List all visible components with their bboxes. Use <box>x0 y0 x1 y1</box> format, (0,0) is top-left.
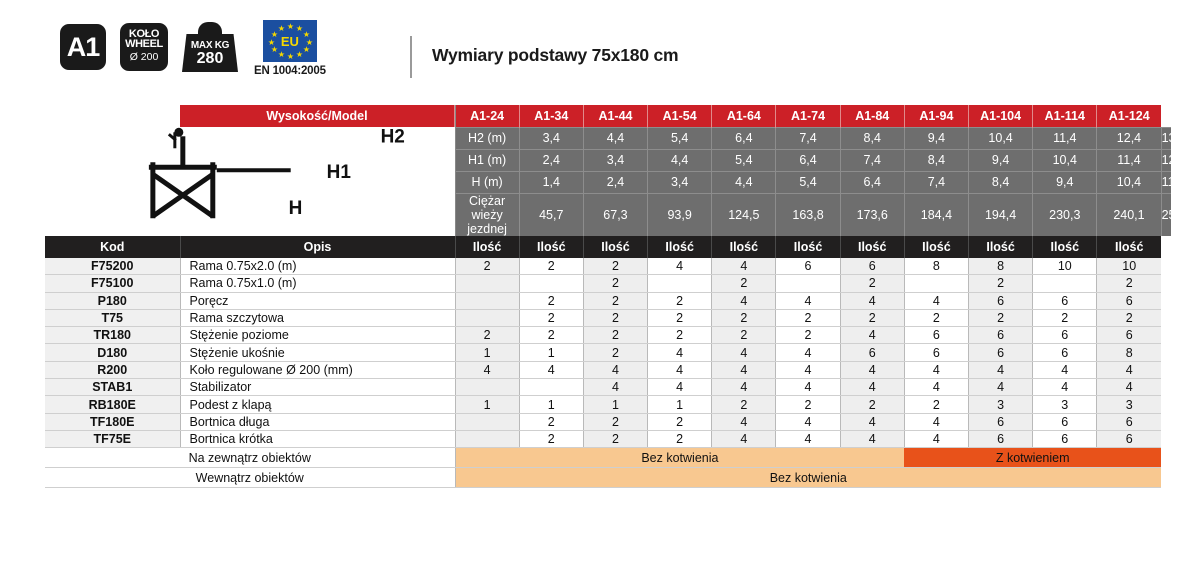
part-quantity: 4 <box>648 379 712 396</box>
subheader-ilosc: Ilość <box>455 236 519 258</box>
max-weight-badge-icon: MAX KG 280 <box>182 22 238 72</box>
part-quantity: 4 <box>840 327 904 344</box>
model-header-a1-24[interactable]: A1-24 <box>455 105 519 127</box>
subheader-ilosc: Ilość <box>583 236 647 258</box>
table-row: TF75EBortnica krótka2224444666 <box>45 430 1171 447</box>
part-quantity: 2 <box>840 275 904 292</box>
part-quantity: 4 <box>840 379 904 396</box>
part-quantity: 2 <box>519 309 583 326</box>
spec-row-label: H (m) <box>455 171 519 193</box>
part-quantity: 3 <box>1097 396 1161 413</box>
part-quantity <box>519 275 583 292</box>
part-code: D180 <box>45 344 180 361</box>
spec-value: 184,4 <box>904 193 968 236</box>
spec-value: 4,4 <box>648 149 712 171</box>
part-quantity: 2 <box>712 275 776 292</box>
part-quantity <box>455 292 519 309</box>
part-quantity: 6 <box>1097 292 1161 309</box>
part-quantity: 4 <box>840 430 904 447</box>
part-quantity: 4 <box>712 379 776 396</box>
part-quantity: 4 <box>776 292 840 309</box>
svg-text:H: H <box>289 198 303 219</box>
part-quantity: 2 <box>648 430 712 447</box>
part-quantity <box>648 275 712 292</box>
part-quantity <box>455 379 519 396</box>
wheel-badge-line2: WHEEL <box>125 39 163 49</box>
spec-value: 124,5 <box>712 193 776 236</box>
table-row: TF180EBortnica długa2224444666 <box>45 413 1171 430</box>
spec-value: 230,3 <box>1033 193 1097 236</box>
spec-value: 3,4 <box>519 127 583 149</box>
part-quantity: 2 <box>583 275 647 292</box>
part-quantity <box>904 275 968 292</box>
spec-value: 9,4 <box>904 127 968 149</box>
spec-value: 240,1 <box>1097 193 1161 236</box>
spec-value: 10,4 <box>969 127 1033 149</box>
anchoring-with-label: Z kotwieniem <box>904 448 1161 468</box>
part-quantity: 4 <box>712 413 776 430</box>
spec-value: 93,9 <box>648 193 712 236</box>
parts-subheader-row: KodOpisIlośćIlośćIlośćIlośćIlośćIlośćIlo… <box>45 236 1171 258</box>
part-quantity: 1 <box>519 344 583 361</box>
max-kg-value: 280 <box>197 51 224 67</box>
part-quantity: 4 <box>648 258 712 275</box>
part-quantity: 4 <box>1033 379 1097 396</box>
eu-flag-icon: ★ ★ ★ ★ ★ ★ ★ ★ ★ ★ ★ ★ EU <box>263 20 317 62</box>
part-quantity: 6 <box>1033 430 1097 447</box>
spec-value: 4,4 <box>583 127 647 149</box>
subheader-ilosc: Ilość <box>648 236 712 258</box>
part-code: F75100 <box>45 275 180 292</box>
part-description: Rama 0.75x2.0 (m) <box>180 258 455 275</box>
part-quantity: 4 <box>712 258 776 275</box>
subheader-ilosc: Ilość <box>776 236 840 258</box>
part-code: F75200 <box>45 258 180 275</box>
part-quantity: 6 <box>969 292 1033 309</box>
part-quantity: 4 <box>712 361 776 378</box>
specification-table: H2 H1 H A1-24A1-34A1-44A1-54A1-64A1-74A1… <box>45 105 1171 488</box>
part-description: Poręcz <box>180 292 455 309</box>
part-quantity: 2 <box>519 327 583 344</box>
spec-value: 5,4 <box>648 127 712 149</box>
spec-row-label: Ciężar wieży jezdnej <box>455 193 519 236</box>
spec-value: 10,4 <box>1097 171 1161 193</box>
part-quantity: 2 <box>1097 275 1161 292</box>
spec-value: 7,4 <box>840 149 904 171</box>
part-quantity: 2 <box>904 396 968 413</box>
part-quantity: 4 <box>455 361 519 378</box>
part-quantity: 2 <box>969 275 1033 292</box>
spec-value: 45,7 <box>519 193 583 236</box>
part-quantity: 2 <box>648 327 712 344</box>
spec-value: 2,4 <box>583 171 647 193</box>
part-code: TR180 <box>45 327 180 344</box>
part-quantity: 4 <box>776 430 840 447</box>
part-quantity: 2 <box>519 413 583 430</box>
subheader-ilosc: Ilość <box>1033 236 1097 258</box>
part-quantity: 4 <box>1097 361 1161 378</box>
part-description: Rama szczytowa <box>180 309 455 326</box>
part-code: STAB1 <box>45 379 180 396</box>
part-quantity <box>455 275 519 292</box>
model-header-a1-94[interactable]: A1-94 <box>904 105 968 127</box>
part-quantity: 4 <box>1097 379 1161 396</box>
part-quantity: 8 <box>904 258 968 275</box>
part-quantity: 1 <box>455 344 519 361</box>
spec-value: 4,4 <box>712 171 776 193</box>
table-row: STAB1Stabilizator444444444 <box>45 379 1171 396</box>
en-standard-label: EN 1004:2005 <box>254 65 326 77</box>
badge-header: A1 KOŁO WHEEL Ø 200 MAX KG 280 ★ ★ ★ ★ ★… <box>60 18 326 98</box>
anchoring-without-label: Bez kotwienia <box>455 448 904 468</box>
part-quantity: 6 <box>904 344 968 361</box>
table-row: P180Poręcz2224444666 <box>45 292 1171 309</box>
part-code: T75 <box>45 309 180 326</box>
subheader-ilosc: Ilość <box>904 236 968 258</box>
max-kg-label: MAX KG <box>191 40 229 51</box>
part-quantity: 6 <box>969 413 1033 430</box>
part-quantity: 4 <box>712 430 776 447</box>
part-quantity: 2 <box>648 292 712 309</box>
part-quantity: 2 <box>583 344 647 361</box>
eu-flag-label: EU <box>281 34 299 49</box>
spec-value: 194,4 <box>969 193 1033 236</box>
part-quantity: 6 <box>1097 327 1161 344</box>
part-quantity: 6 <box>1033 292 1097 309</box>
table-row: T75Rama szczytowa2222222222 <box>45 309 1171 326</box>
svg-text:H2: H2 <box>381 126 405 147</box>
part-quantity: 2 <box>1033 309 1097 326</box>
eu-certification-badge: ★ ★ ★ ★ ★ ★ ★ ★ ★ ★ ★ ★ EU EN 1004:2005 <box>254 20 326 77</box>
part-description: Stężenie poziome <box>180 327 455 344</box>
part-quantity: 4 <box>648 361 712 378</box>
part-quantity: 4 <box>1033 361 1097 378</box>
part-quantity: 2 <box>776 396 840 413</box>
a1-badge-label: A1 <box>67 32 100 63</box>
specification-table-container: H2 H1 H A1-24A1-34A1-44A1-54A1-64A1-74A1… <box>45 105 1171 488</box>
spec-value: 10,4 <box>1033 149 1097 171</box>
part-quantity: 4 <box>583 361 647 378</box>
part-quantity <box>1033 275 1097 292</box>
part-quantity: 10 <box>1033 258 1097 275</box>
part-quantity: 6 <box>1097 430 1161 447</box>
part-quantity: 4 <box>840 292 904 309</box>
spec-value: 3,4 <box>648 171 712 193</box>
model-header-a1-54[interactable]: A1-54 <box>648 105 712 127</box>
spec-value: 173,6 <box>840 193 904 236</box>
spec-value: 13,4 <box>1161 127 1171 149</box>
a1-model-badge: A1 <box>60 24 106 70</box>
wheel-badge-diameter: Ø 200 <box>130 51 159 64</box>
part-quantity: 8 <box>969 258 1033 275</box>
part-quantity: 8 <box>1097 344 1161 361</box>
spec-value: 11,4 <box>1033 127 1097 149</box>
part-code: RB180E <box>45 396 180 413</box>
subheader-ilosc: Ilość <box>712 236 776 258</box>
spec-value: 5,4 <box>712 149 776 171</box>
part-quantity <box>455 413 519 430</box>
part-description: Stężenie ukośnie <box>180 344 455 361</box>
spec-value: 251,1 <box>1161 193 1171 236</box>
part-quantity: 2 <box>455 258 519 275</box>
subheader-ilosc: Ilość <box>519 236 583 258</box>
table-row: R200Koło regulowane Ø 200 (mm)4444444444… <box>45 361 1171 378</box>
model-header-a1-44[interactable]: A1-44 <box>583 105 647 127</box>
part-description: Bortnica krótka <box>180 430 455 447</box>
part-quantity: 6 <box>840 258 904 275</box>
subheader-ilosc: Ilość <box>969 236 1033 258</box>
wysokosc-model-header: Wysokość/Model <box>180 105 455 127</box>
spec-value: 6,4 <box>776 149 840 171</box>
part-quantity: 4 <box>904 430 968 447</box>
table-row: F75100Rama 0.75x1.0 (m)22222 <box>45 275 1171 292</box>
spec-value: 3,4 <box>583 149 647 171</box>
model-header-a1-114[interactable]: A1-114 <box>1033 105 1097 127</box>
part-quantity: 4 <box>776 379 840 396</box>
part-quantity: 2 <box>712 396 776 413</box>
part-quantity <box>455 430 519 447</box>
spec-value: 12,4 <box>1161 149 1171 171</box>
part-description: Podest z klapą <box>180 396 455 413</box>
spec-value: 11,4 <box>1161 171 1171 193</box>
part-quantity <box>776 275 840 292</box>
part-quantity: 1 <box>519 396 583 413</box>
part-code: P180 <box>45 292 180 309</box>
part-quantity: 4 <box>776 413 840 430</box>
part-quantity <box>519 379 583 396</box>
subheader-opis: Opis <box>180 236 455 258</box>
spec-value: 9,4 <box>969 149 1033 171</box>
part-quantity: 2 <box>583 292 647 309</box>
part-quantity: 2 <box>519 258 583 275</box>
part-quantity: 1 <box>583 396 647 413</box>
part-quantity: 4 <box>904 413 968 430</box>
spec-value: 6,4 <box>840 171 904 193</box>
part-quantity: 4 <box>904 379 968 396</box>
part-quantity: 4 <box>712 344 776 361</box>
part-quantity: 2 <box>583 258 647 275</box>
anchoring-row: Na zewnątrz obiektówBez kotwieniaZ kotwi… <box>45 448 1171 468</box>
title-divider <box>410 36 412 78</box>
spec-value: 11,4 <box>1097 149 1161 171</box>
part-quantity: 3 <box>969 396 1033 413</box>
spec-value: 2,4 <box>519 149 583 171</box>
svg-text:H1: H1 <box>327 162 352 183</box>
part-quantity: 10 <box>1097 258 1161 275</box>
part-code: R200 <box>45 361 180 378</box>
table-row: F75200Rama 0.75x2.0 (m)2224466881010 <box>45 258 1171 275</box>
part-quantity: 2 <box>1097 309 1161 326</box>
part-quantity: 2 <box>776 327 840 344</box>
part-quantity: 2 <box>776 309 840 326</box>
part-description: Stabilizator <box>180 379 455 396</box>
part-quantity: 6 <box>840 344 904 361</box>
part-quantity: 4 <box>969 361 1033 378</box>
part-quantity: 2 <box>904 309 968 326</box>
part-quantity: 1 <box>648 396 712 413</box>
part-quantity: 1 <box>455 396 519 413</box>
part-quantity: 2 <box>712 327 776 344</box>
spec-row-label: H2 (m) <box>455 127 519 149</box>
part-quantity: 6 <box>969 430 1033 447</box>
part-quantity: 2 <box>840 309 904 326</box>
part-quantity: 4 <box>648 344 712 361</box>
part-quantity: 3 <box>1033 396 1097 413</box>
part-quantity: 4 <box>583 379 647 396</box>
part-quantity: 4 <box>904 292 968 309</box>
part-quantity: 4 <box>969 379 1033 396</box>
spec-value: 67,3 <box>583 193 647 236</box>
page-title: Wymiary podstawy 75x180 cm <box>432 45 678 66</box>
spec-row-label: H1 (m) <box>455 149 519 171</box>
part-code: TF180E <box>45 413 180 430</box>
part-quantity: 6 <box>969 327 1033 344</box>
part-code: TF75E <box>45 430 180 447</box>
spec-value: 7,4 <box>776 127 840 149</box>
part-quantity: 2 <box>969 309 1033 326</box>
part-quantity: 2 <box>519 430 583 447</box>
spec-value: 5,4 <box>776 171 840 193</box>
part-quantity: 2 <box>583 413 647 430</box>
spec-value: 163,8 <box>776 193 840 236</box>
subheader-ilosc: Ilość <box>1097 236 1161 258</box>
part-quantity: 2 <box>648 413 712 430</box>
part-quantity: 6 <box>1097 413 1161 430</box>
part-quantity: 4 <box>776 361 840 378</box>
part-quantity: 2 <box>712 309 776 326</box>
part-quantity: 4 <box>840 413 904 430</box>
model-header-a1-124[interactable]: A1-124 <box>1097 105 1161 127</box>
part-quantity: 2 <box>455 327 519 344</box>
spec-value: 8,4 <box>904 149 968 171</box>
anchoring-row: Wewnątrz obiektówBez kotwienia <box>45 468 1171 488</box>
part-description: Koło regulowane Ø 200 (mm) <box>180 361 455 378</box>
part-quantity: 4 <box>712 292 776 309</box>
spec-value: 1,4 <box>519 171 583 193</box>
spec-value: 8,4 <box>840 127 904 149</box>
part-quantity: 6 <box>904 327 968 344</box>
part-quantity: 2 <box>583 309 647 326</box>
table-row: D180Stężenie ukośnie11244466668 <box>45 344 1171 361</box>
part-quantity: 2 <box>840 396 904 413</box>
anchoring-label: Na zewnątrz obiektów <box>45 448 455 468</box>
part-quantity: 6 <box>1033 413 1097 430</box>
part-quantity: 2 <box>583 430 647 447</box>
part-quantity: 4 <box>904 361 968 378</box>
subheader-ilosc: Ilość <box>840 236 904 258</box>
part-quantity: 6 <box>776 258 840 275</box>
table-row: RB180EPodest z klapą11112222333 <box>45 396 1171 413</box>
spec-value: 9,4 <box>1033 171 1097 193</box>
part-quantity: 2 <box>519 292 583 309</box>
part-description: Bortnica długa <box>180 413 455 430</box>
spec-value: 12,4 <box>1097 127 1161 149</box>
part-quantity: 4 <box>776 344 840 361</box>
model-header-a1-104[interactable]: A1-104 <box>969 105 1033 127</box>
part-description: Rama 0.75x1.0 (m) <box>180 275 455 292</box>
part-quantity: 2 <box>648 309 712 326</box>
part-quantity: 6 <box>1033 344 1097 361</box>
part-quantity: 6 <box>969 344 1033 361</box>
model-header-a1-84[interactable]: A1-84 <box>840 105 904 127</box>
subheader-kod: Kod <box>45 236 180 258</box>
part-quantity: 6 <box>1033 327 1097 344</box>
wheel-badge-icon: KOŁO WHEEL Ø 200 <box>120 23 168 71</box>
part-quantity: 2 <box>583 327 647 344</box>
part-quantity: 4 <box>519 361 583 378</box>
spec-value: 6,4 <box>712 127 776 149</box>
spec-value: 8,4 <box>969 171 1033 193</box>
model-header-a1-74[interactable]: A1-74 <box>776 105 840 127</box>
anchoring-without-label: Bez kotwienia <box>455 468 1161 488</box>
anchoring-label: Wewnątrz obiektów <box>45 468 455 488</box>
part-quantity <box>455 309 519 326</box>
spec-value: 7,4 <box>904 171 968 193</box>
part-quantity: 4 <box>840 361 904 378</box>
model-header-a1-64[interactable]: A1-64 <box>712 105 776 127</box>
table-row: TR180Stężenie poziome22222246666 <box>45 327 1171 344</box>
model-header-a1-34[interactable]: A1-34 <box>519 105 583 127</box>
